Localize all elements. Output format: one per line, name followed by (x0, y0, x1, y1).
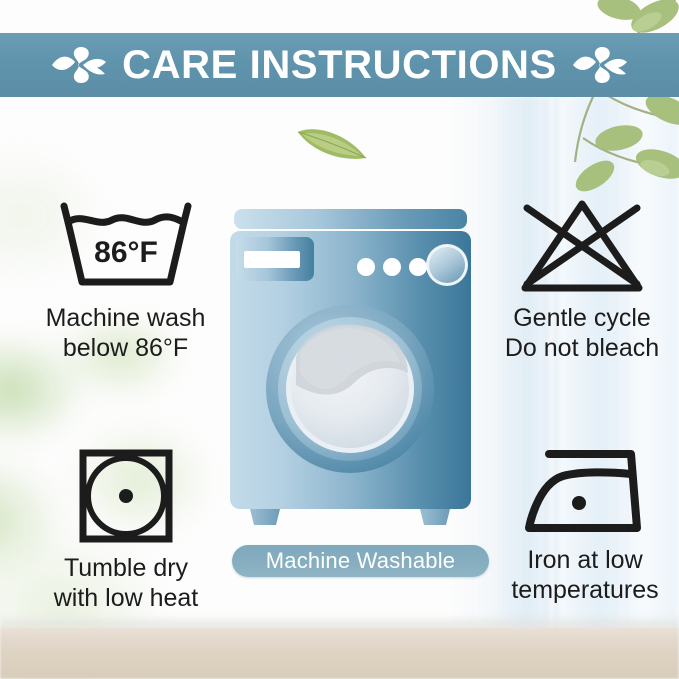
care-symbol-caption: Tumble dry with low heat (54, 554, 199, 613)
care-symbol-caption: Machine wash below 86°F (46, 304, 206, 363)
indicator-dot (409, 258, 427, 276)
fleur-de-lis-icon (50, 42, 108, 88)
caption-line-1: Tumble dry (64, 554, 188, 582)
caption-line-2: below 86°F (63, 334, 188, 362)
indicator-dot (357, 258, 375, 276)
care-symbol-do-not-bleach: Gentle cycle Do not bleach (492, 196, 672, 363)
care-symbol-caption: Gentle cycle Do not bleach (505, 304, 659, 363)
care-symbol-machine-wash: 86°F Machine wash below 86°F (18, 196, 233, 363)
washing-machine-illustration (228, 207, 473, 537)
care-symbol-caption: Iron at low temperatures (511, 546, 658, 605)
caption-line-2: with low heat (54, 584, 199, 612)
status-badge: Machine Washable (232, 545, 489, 577)
care-instructions-infographic: CARE INSTRUCTIONS 86°F Machine wash belo… (0, 0, 679, 679)
tumble-dry-low-icon (76, 446, 176, 546)
machine-foot (250, 509, 280, 525)
wash-temperature-value: 86°F (94, 236, 158, 269)
indicator-dot (383, 258, 401, 276)
triangle-crossed-icon (511, 196, 653, 296)
header-banner: CARE INSTRUCTIONS (0, 33, 679, 97)
caption-line-2: temperatures (511, 576, 658, 604)
wash-tub-icon: 86°F (52, 196, 200, 296)
iron-low-icon (519, 446, 651, 538)
page-title: CARE INSTRUCTIONS (122, 45, 557, 85)
care-symbol-iron-low: Iron at low temperatures (495, 446, 675, 605)
caption-line-1: Gentle cycle (513, 304, 651, 332)
fleur-de-lis-icon (571, 42, 629, 88)
caption-line-1: Iron at low (527, 546, 642, 574)
caption-line-1: Machine wash (46, 304, 206, 332)
floating-leaf-decoration (296, 122, 368, 164)
table-edge-shadow (0, 615, 679, 627)
wood-table-surface (0, 627, 679, 679)
caption-line-2: Do not bleach (505, 334, 659, 362)
badge-label: Machine Washable (266, 548, 455, 574)
leaf-branch-decoration (479, 0, 679, 201)
care-symbol-tumble-dry: Tumble dry with low heat (26, 446, 226, 613)
machine-foot (420, 509, 450, 525)
